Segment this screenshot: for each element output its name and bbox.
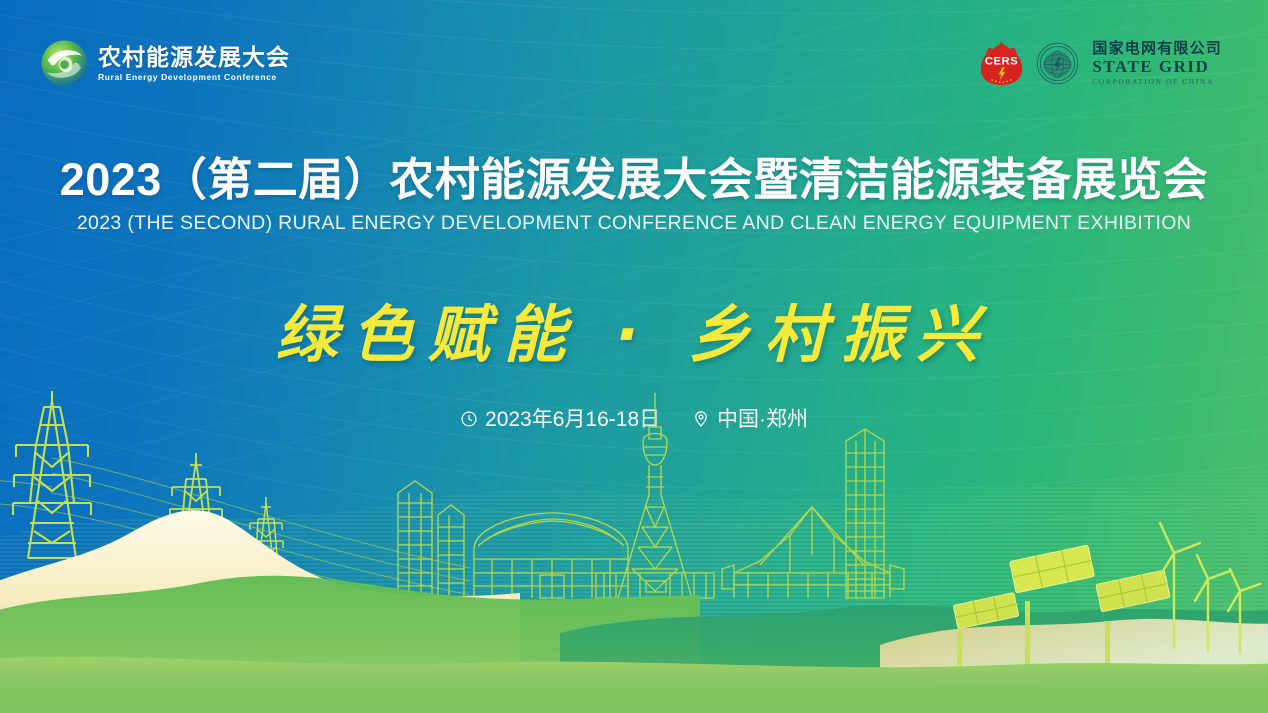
sponsor-logos: CERS 国家电网有限公司 STATE G xyxy=(978,40,1222,87)
state-grid-subtitle: CORPORATION OF CHINA xyxy=(1092,78,1222,86)
conference-logo-cn: 农村能源发展大会 xyxy=(98,45,290,69)
cers-logo-icon: CERS xyxy=(978,40,1025,87)
conference-logo: 农村能源发展大会 Rural Energy Development Confer… xyxy=(40,39,290,88)
page-subtitle: 2023 (THE SECOND) RURAL ENERGY DEVELOPME… xyxy=(0,214,1268,234)
state-grid-name-cn: 国家电网有限公司 xyxy=(1092,41,1222,56)
conference-logo-en: Rural Energy Development Conference xyxy=(98,72,290,82)
conference-banner: 农村能源发展大会 Rural Energy Development Confer… xyxy=(0,0,1268,713)
slogan: 绿色赋能 · 乡村振兴 xyxy=(0,296,1268,374)
svg-text:CERS: CERS xyxy=(985,55,1018,67)
scenery-illustration xyxy=(0,383,1268,713)
page-title: 2023（第二届）农村能源发展大会暨清洁能源装备展览会 xyxy=(0,157,1268,202)
state-grid-globe-icon xyxy=(1035,41,1080,86)
conference-emblem-icon xyxy=(40,39,89,88)
state-grid-name-en: STATE GRID xyxy=(1092,58,1222,75)
